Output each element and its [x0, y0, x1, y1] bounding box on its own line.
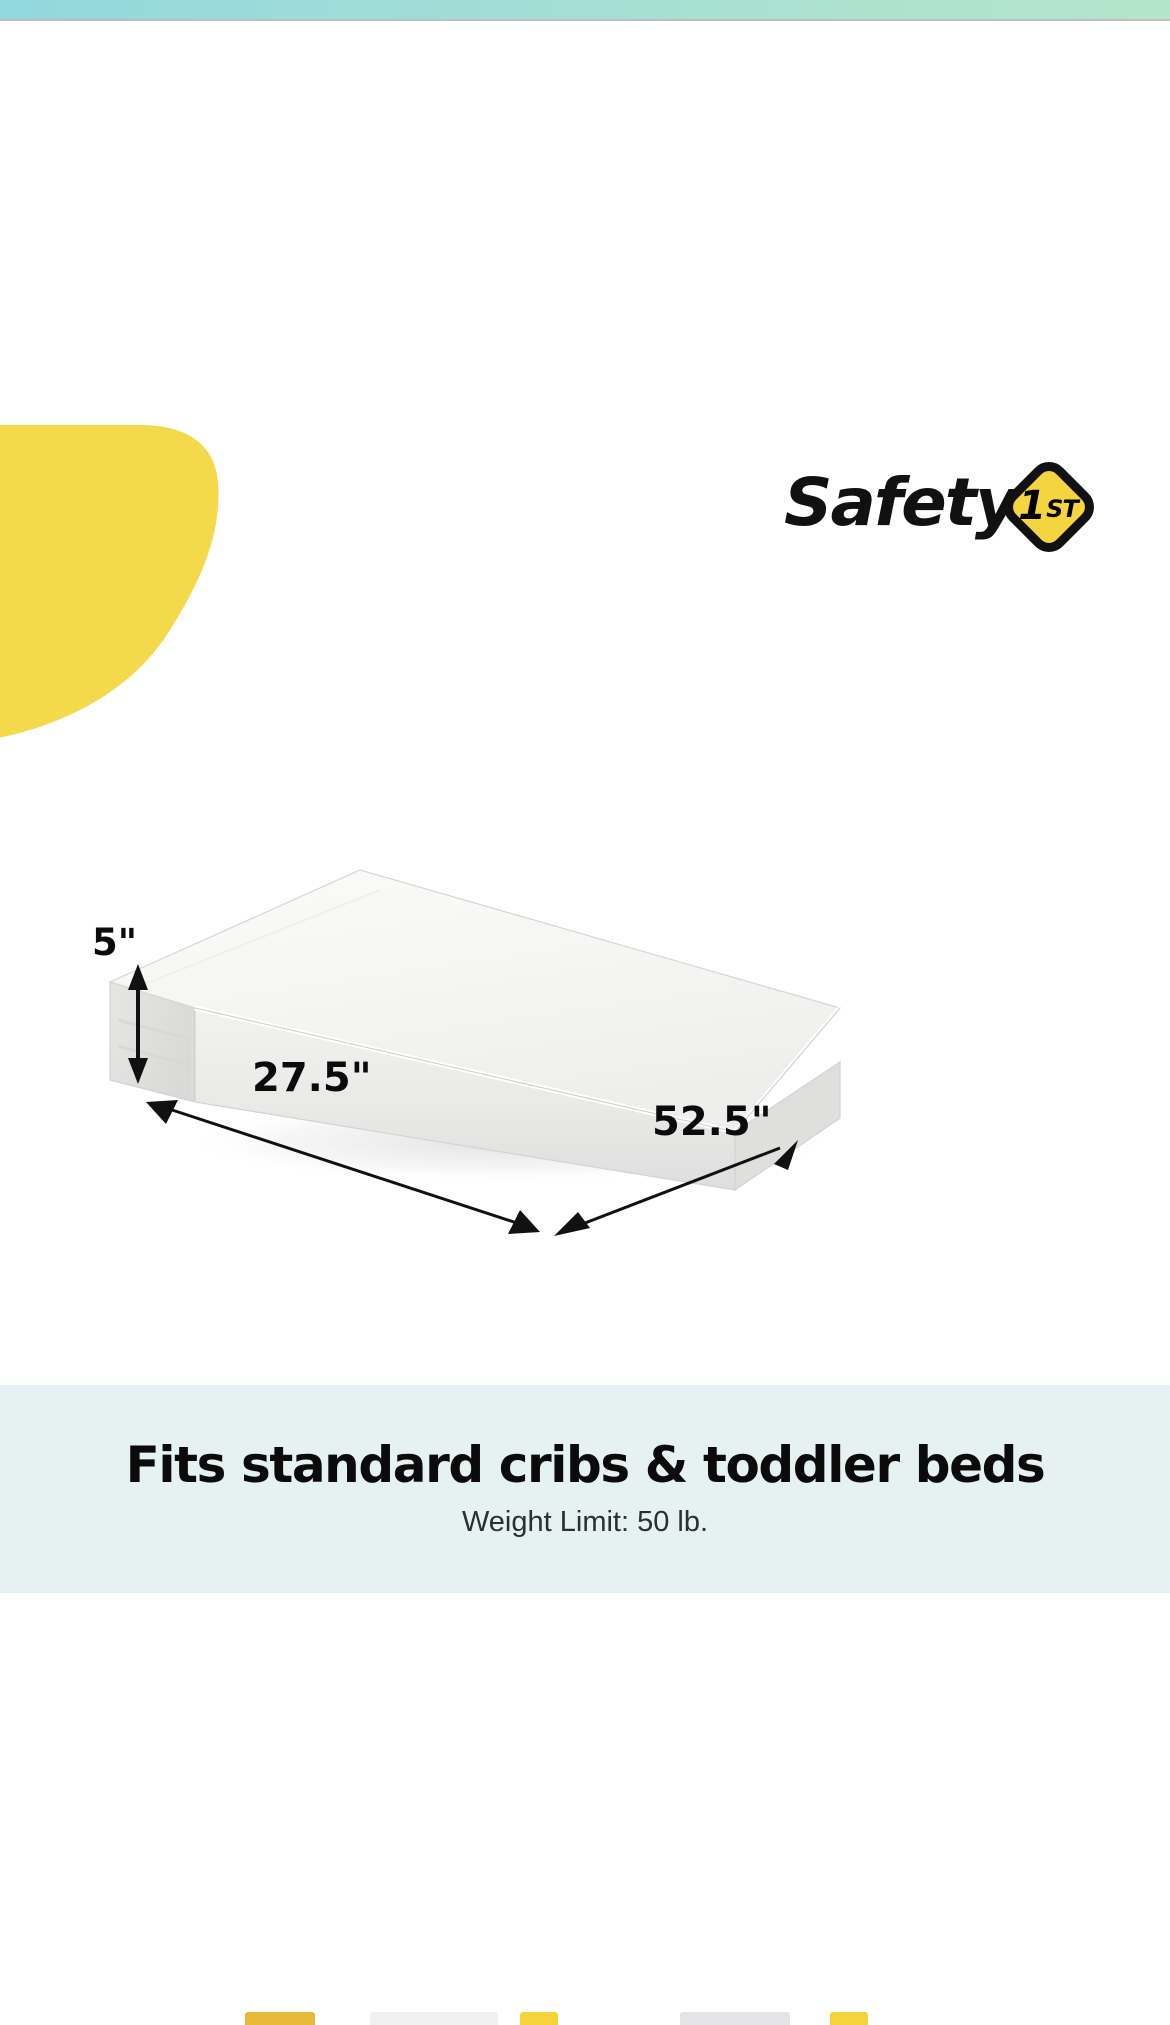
yellow-decorative-blob: [0, 425, 280, 750]
brand-badge-number: 1: [1018, 483, 1046, 529]
product-detail-image: Safety 1ST: [0, 0, 1170, 2025]
thumbnail-carousel[interactable]: [0, 2012, 1170, 2025]
dimension-label-length: 52.5": [652, 1102, 772, 1142]
brand-logo: Safety 1ST: [784, 462, 1124, 554]
thumbnail-4[interactable]: [680, 2012, 790, 2025]
thumbnail-5[interactable]: [830, 2012, 868, 2025]
brand-badge-label: 1ST: [1004, 462, 1094, 552]
dimension-label-height: 5": [92, 924, 137, 961]
info-banner: Fits standard cribs & toddler beds Weigh…: [0, 1385, 1170, 1593]
thumbnail-2[interactable]: [370, 2012, 498, 2025]
dimension-label-width: 27.5": [252, 1058, 372, 1098]
brand-wordmark: Safety: [784, 470, 1017, 536]
info-banner-subtitle: Weight Limit: 50 lb.: [462, 1507, 708, 1539]
brand-badge-suffix: ST: [1046, 495, 1078, 523]
thumbnail-3[interactable]: [520, 2012, 558, 2025]
thumbnail-1[interactable]: [245, 2012, 315, 2025]
info-banner-title: Fits standard cribs & toddler beds: [126, 1439, 1045, 1492]
product-mattress-illustration: [80, 850, 960, 1330]
decorative-gradient-bar: [0, 0, 1170, 19]
header-divider: [0, 19, 1170, 21]
